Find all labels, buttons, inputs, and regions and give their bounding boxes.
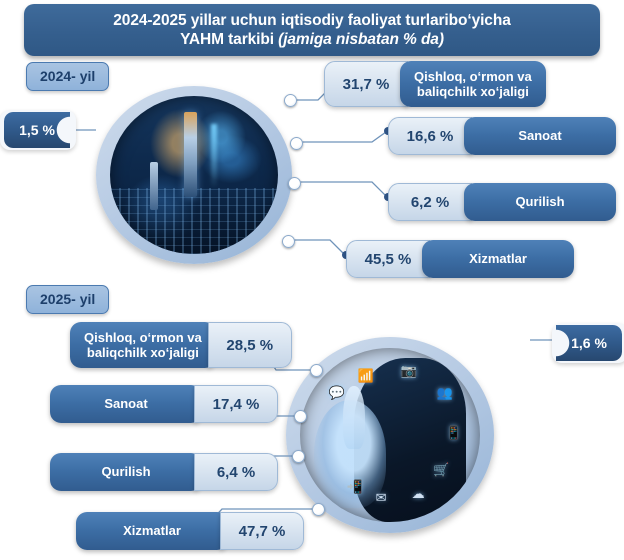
- page-title: 2024-2025 yillar uchun iqtisodiy faoliya…: [99, 11, 524, 50]
- label-2024-construction: Qurilish: [464, 183, 616, 221]
- envelope-icon: ✉: [376, 491, 387, 504]
- label-2024-agriculture: Qishloq, o‘rmon va baliqchilk xo‘jaligi: [400, 61, 546, 107]
- percent-2024-construction: 6,2 %: [388, 183, 472, 221]
- label-2025-services: Xizmatlar: [76, 512, 228, 550]
- percent-2025-industry: 17,4 %: [194, 385, 278, 423]
- plant-structure-decor: [110, 188, 278, 254]
- callout-2025-agriculture: Qishloq, o‘rmon va baliqchilk xo‘jaligi …: [70, 322, 292, 368]
- end-badge-2024-net-taxes: 1,5 %: [4, 112, 70, 148]
- title-line-2-main: YAHM tarkibi: [180, 31, 278, 48]
- callout-2024-industry: 16,6 % Sanoat: [388, 117, 616, 155]
- ring-dot-2025-services: [312, 503, 325, 516]
- callout-2025-industry: Sanoat 17,4 %: [50, 385, 278, 423]
- connector-2024-services: [288, 240, 344, 254]
- label-2024-industry: Sanoat: [464, 117, 616, 155]
- ring-dot-2024-construction: [288, 177, 301, 190]
- label-2025-industry: Sanoat: [50, 385, 202, 423]
- end-badge-2025-net-taxes: 1,6 %: [556, 325, 622, 361]
- title-line-2-italic: (jamiga nisbatan % da): [278, 31, 444, 48]
- percent-2024-agriculture: 31,7 %: [324, 61, 408, 107]
- callout-2024-construction: 6,2 % Qurilish: [388, 183, 616, 221]
- people-icon: 👥: [437, 386, 453, 399]
- music-player-icon: 📱: [446, 426, 462, 439]
- percent-2025-services: 47,7 %: [220, 512, 304, 550]
- title-line-1: 2024-2025 yillar uchun iqtisodiy faoliya…: [113, 12, 510, 29]
- chat-icon: 💬: [329, 386, 345, 399]
- smartphone-icon: 📲: [347, 480, 363, 493]
- ring-dot-2024-industry: [290, 137, 303, 150]
- cart-icon: 🛒: [433, 463, 449, 476]
- finger-decor: [343, 386, 365, 449]
- ring-dot-2025-agriculture: [310, 364, 323, 377]
- callout-2025-services: Xizmatlar 47,7 %: [76, 512, 304, 550]
- ring-dot-2025-construction: [292, 450, 305, 463]
- percent-2024-industry: 16,6 %: [388, 117, 472, 155]
- wifi-icon: 📶: [358, 369, 374, 382]
- year-chip-2025: 2025- yil: [26, 285, 109, 314]
- ring-dot-2025-industry: [294, 410, 307, 423]
- smokestack-decor: [184, 112, 197, 197]
- percent-2024-services: 45,5 %: [346, 240, 430, 278]
- percent-2025-agriculture: 28,5 %: [208, 322, 292, 368]
- label-2024-services: Xizmatlar: [422, 240, 574, 278]
- percent-2025-construction: 6,4 %: [194, 453, 278, 491]
- cloud-icon: ☁: [412, 487, 425, 500]
- year-chip-2024: 2024- yil: [26, 62, 109, 91]
- connector-2024-industry: [296, 132, 386, 142]
- callout-2024-agriculture: 31,7 % Qishloq, o‘rmon va baliqchilk xo‘…: [324, 61, 546, 107]
- ring-dot-2024-services: [282, 235, 295, 248]
- camera-icon: 📷: [401, 364, 417, 377]
- secondary-stack-decor: [150, 162, 158, 209]
- connector-2024-construction: [294, 182, 386, 196]
- digital-technology-photo: 📶 📷 👥 📱 🛒 ✉ ☁ 📲 💬: [300, 348, 480, 522]
- ring-dot-2024-agriculture: [284, 94, 297, 107]
- light-glow-decor: [211, 124, 217, 187]
- callout-2024-services: 45,5 % Xizmatlar: [346, 240, 574, 278]
- infographic-canvas: 2024-2025 yillar uchun iqtisodiy faoliya…: [0, 0, 624, 560]
- label-2025-agriculture: Qishloq, o‘rmon va baliqchilk xo‘jaligi: [70, 322, 216, 368]
- label-2025-construction: Qurilish: [50, 453, 202, 491]
- title-bar: 2024-2025 yillar uchun iqtisodiy faoliya…: [24, 4, 600, 56]
- callout-2025-construction: Qurilish 6,4 %: [50, 453, 278, 491]
- industrial-refinery-photo: [110, 96, 278, 254]
